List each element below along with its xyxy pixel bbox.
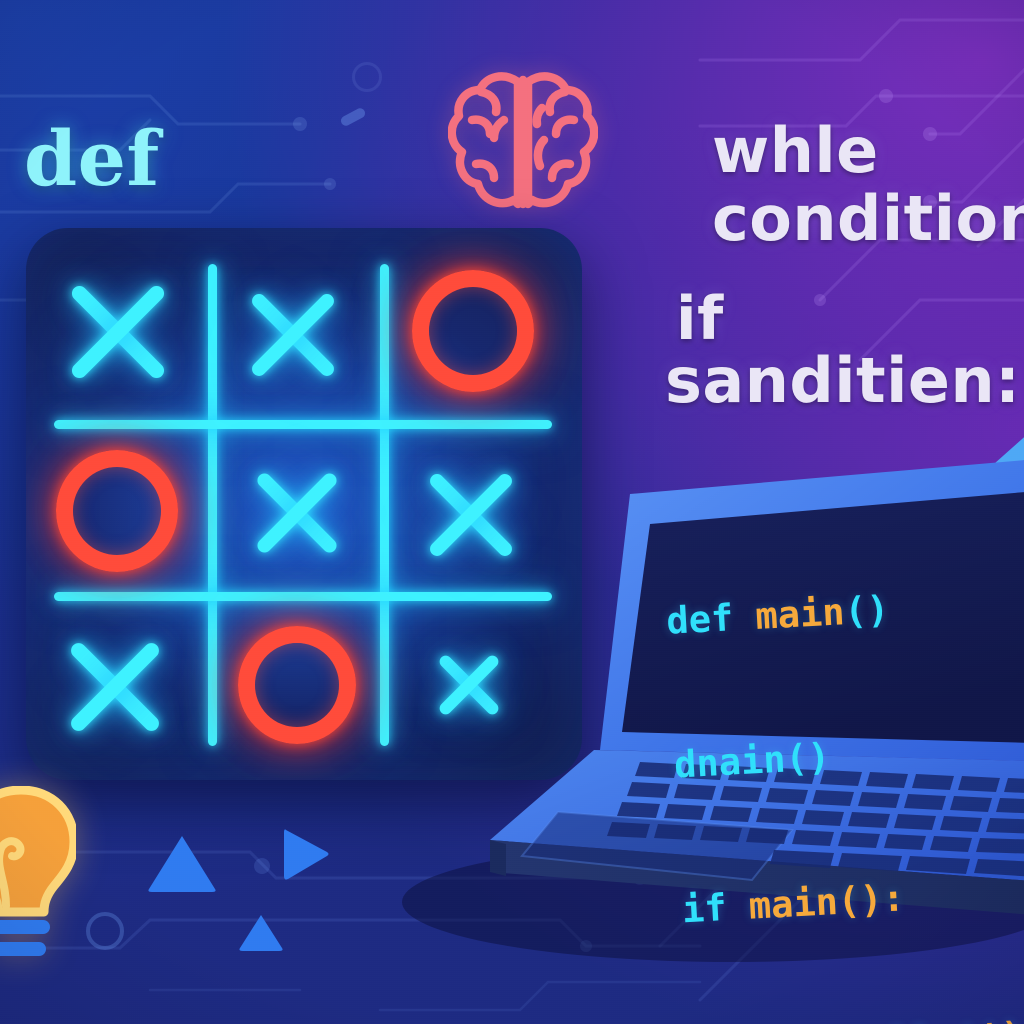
- decor-dash-icon: [339, 106, 367, 127]
- grid-line-vertical-1: [208, 264, 217, 746]
- triangle-up-icon: [146, 832, 218, 894]
- board-cell-0-0[interactable]: [56, 270, 180, 394]
- board-cell-2-1[interactable]: [238, 626, 356, 744]
- mark-o: [56, 450, 178, 572]
- decor-circle-small-icon: [352, 62, 382, 92]
- mark-x: [56, 628, 174, 746]
- code-line-4: print("Hello!'): [689, 1010, 1024, 1024]
- mark-x: [244, 460, 350, 566]
- code-line-3: if main():: [681, 866, 1024, 934]
- poster-canvas: def whle condition if sanditien:: [0, 0, 1024, 1024]
- mark-o: [412, 270, 534, 392]
- board-cell-0-1[interactable]: [238, 280, 348, 390]
- mark-x: [238, 280, 348, 390]
- lightbulb-icon: [0, 786, 76, 964]
- board-cell-2-0[interactable]: [56, 628, 174, 746]
- grid-line-horizontal-1: [54, 420, 552, 429]
- triangle-right-icon: [282, 826, 330, 882]
- laptop-screen-code: def main() dnain() if main(): print("Hel…: [660, 482, 1024, 1024]
- brain-icon: [448, 64, 598, 216]
- mark-x: [56, 270, 180, 394]
- board-cell-1-1[interactable]: [244, 460, 350, 566]
- decor-circle-icon: [86, 912, 124, 950]
- board-cell-0-2[interactable]: [412, 270, 534, 392]
- triangle-up-small-icon: [238, 912, 284, 952]
- keyword-def: def: [24, 114, 160, 203]
- code-line-1: def main(): [665, 578, 1024, 646]
- keyword-condition: condition: [712, 182, 1024, 255]
- keyword-while: whle: [712, 114, 879, 187]
- board-cell-1-0[interactable]: [56, 450, 178, 572]
- code-line-2: dnain(): [673, 722, 1024, 790]
- keyword-sandition: sanditien:: [665, 344, 1020, 417]
- mark-o: [238, 626, 356, 744]
